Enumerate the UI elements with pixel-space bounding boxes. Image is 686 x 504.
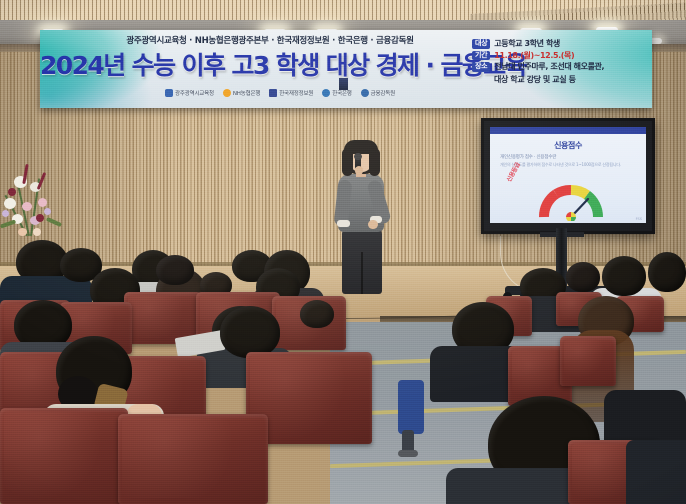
audience-body <box>626 440 686 504</box>
banner-info-box: 대상 고등학교 3학년 학생 기간 11.18.(월)~12.5.(목) 장소 … <box>472 39 648 85</box>
audience-head <box>602 256 646 296</box>
presenter-cuff-left <box>337 220 350 227</box>
sponsor-logo-label: 금융감독원 <box>371 89 395 97</box>
slide-watermark: FSS <box>636 217 642 221</box>
flower-foliage <box>46 217 62 227</box>
info-row-period: 기간 11.18.(월)~12.5.(목) <box>472 51 648 61</box>
sponsor-logo: 한국은행 <box>322 89 351 97</box>
flower-foliage <box>0 219 16 228</box>
microphone-head-icon <box>354 153 362 160</box>
info-row-target: 대상 고등학교 3학년 학생 <box>472 39 648 49</box>
flower-bloom <box>44 208 51 215</box>
credit-score-gauge-chart <box>536 179 606 221</box>
flower-bloom <box>33 228 41 236</box>
info-tag: 기간 <box>472 51 490 61</box>
flower-bloom <box>8 188 16 196</box>
logo-mark-icon <box>269 89 277 97</box>
logo-mark-icon <box>322 89 330 97</box>
sponsor-logo: 한국재정정보원 <box>269 89 313 97</box>
audience-head <box>566 262 600 292</box>
logo-mark-icon <box>165 89 173 97</box>
info-tag: 장소 <box>472 62 490 72</box>
info-value: 고등학교 3학년 학생 <box>494 39 560 48</box>
event-banner: 광주광역시교육청 · NH농협은행광주본부 · 한국재정정보원 · 한국은행 ·… <box>40 30 652 108</box>
slide-header-bar <box>490 127 646 134</box>
sponsor-logo-label: 광주광역시교육청 <box>175 89 214 97</box>
photo-scene: 광주광역시교육청 · NH농협은행광주본부 · 한국재정정보원 · 한국은행 ·… <box>0 0 686 504</box>
audience-head <box>156 255 194 285</box>
info-value: 11.18.(월)~12.5.(목) <box>494 51 574 60</box>
audience-head <box>220 306 280 358</box>
audience-shoe <box>398 450 418 457</box>
audience-body <box>398 380 424 434</box>
sponsor-logo: NH농협은행 <box>223 89 260 97</box>
flower-bloom <box>18 228 27 236</box>
logo-mark-icon <box>223 89 231 97</box>
presenter-hand-right <box>368 220 378 229</box>
slide-title: 신용점수 <box>490 140 646 151</box>
presenter-hair-side-left <box>342 148 353 176</box>
banner-title: 2024년 수능 이후 고3 학생 대상 경제 · 금융교육 <box>40 46 498 82</box>
sponsor-logo-label: NH농협은행 <box>233 89 260 97</box>
audience-head <box>300 300 334 328</box>
auditorium-seat <box>0 408 128 504</box>
info-value-continued: 대상 학교 강당 및 교실 등 <box>494 74 648 85</box>
flower-bloom <box>22 202 32 211</box>
flower-bloom <box>36 214 44 222</box>
flower-bloom <box>4 198 16 209</box>
flower-bloom <box>2 210 9 217</box>
info-tag: 대상 <box>472 39 490 49</box>
sponsor-logo-label: 한국재정정보원 <box>279 89 313 97</box>
presenter-hand-left <box>355 166 363 175</box>
auditorium-seat <box>560 336 616 386</box>
presenter-leg-seam <box>361 252 363 294</box>
slide-content: 신용점수 개인신용평가 점수 · 신용점수란 개인의 신용도를 평가하여 점수로… <box>490 127 646 223</box>
sponsor-logo-row: 광주광역시교육청 NH농협은행 한국재정정보원 한국은행 금융감독원 <box>130 86 430 100</box>
sponsor-logo: 광주광역시교육청 <box>165 89 214 97</box>
presenter <box>330 140 392 300</box>
banner-hosts: 광주광역시교육청 · NH농협은행광주본부 · 한국재정정보원 · 한국은행 ·… <box>40 34 500 46</box>
presenter-hair-side-right <box>369 148 380 176</box>
auditorium-seat <box>118 414 268 504</box>
sponsor-logo-label: 한국은행 <box>332 89 351 97</box>
slide-subtitle: 개인신용평가 점수 · 신용점수란 <box>500 154 636 160</box>
info-value: 전남대 민주마루, 조선대 해오룰관, <box>494 62 604 71</box>
flower-bloom <box>38 198 47 207</box>
sponsor-logo: 금융감독원 <box>361 89 395 97</box>
info-row-venue: 장소 전남대 민주마루, 조선대 해오룰관, <box>472 62 648 72</box>
presentation-display: 신용점수 개인신용평가 점수 · 신용점수란 개인의 신용도를 평가하여 점수로… <box>481 118 655 234</box>
banner-support-pole <box>339 78 348 90</box>
logo-mark-icon <box>361 89 369 97</box>
audience-head <box>648 252 686 292</box>
flower-spike <box>22 164 28 184</box>
